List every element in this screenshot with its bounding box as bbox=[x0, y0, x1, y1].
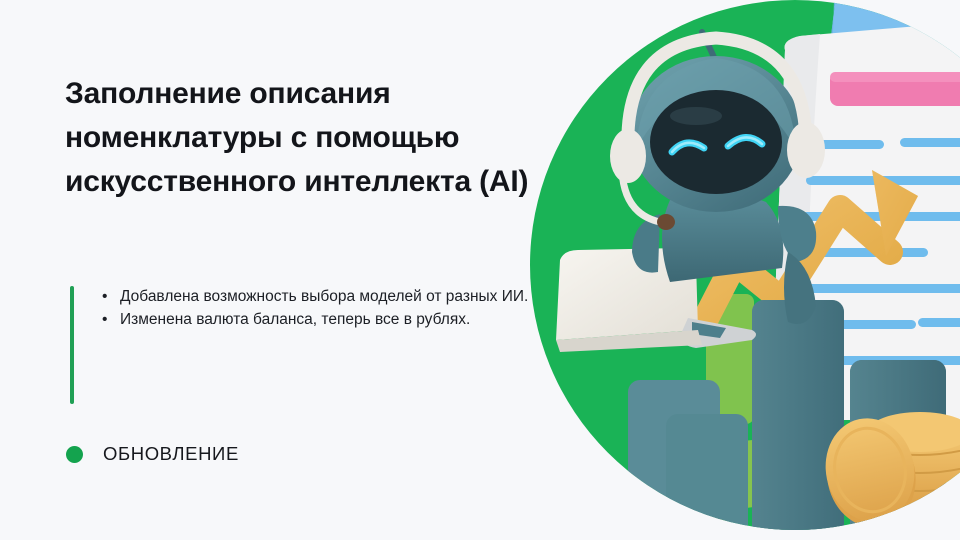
bullet-block: • Добавлена возможность выбора моделей о… bbox=[70, 286, 550, 332]
status-dot-icon bbox=[66, 446, 83, 463]
list-item-label: Добавлена возможность выбора моделей от … bbox=[120, 288, 528, 305]
accent-bar bbox=[70, 286, 74, 404]
feature-list: • Добавлена возможность выбора моделей о… bbox=[100, 286, 550, 331]
page-title: Заполнение описания номенклатуры с помощ… bbox=[65, 72, 565, 204]
bullet-marker-icon: • bbox=[102, 286, 107, 308]
illustration bbox=[520, 0, 960, 540]
list-item: • Добавлена возможность выбора моделей о… bbox=[100, 286, 550, 308]
list-item-label: Изменена валюта баланса, теперь все в ру… bbox=[120, 311, 470, 328]
slide-root: Заполнение описания номенклатуры с помощ… bbox=[0, 0, 960, 540]
text-column: Заполнение описания номенклатуры с помощ… bbox=[0, 0, 580, 540]
status-badge-label: ОБНОВЛЕНИЕ bbox=[103, 443, 239, 465]
bullet-marker-icon: • bbox=[102, 309, 107, 331]
list-item: • Изменена валюта баланса, теперь все в … bbox=[100, 309, 550, 331]
status-badge: ОБНОВЛЕНИЕ bbox=[66, 443, 239, 465]
